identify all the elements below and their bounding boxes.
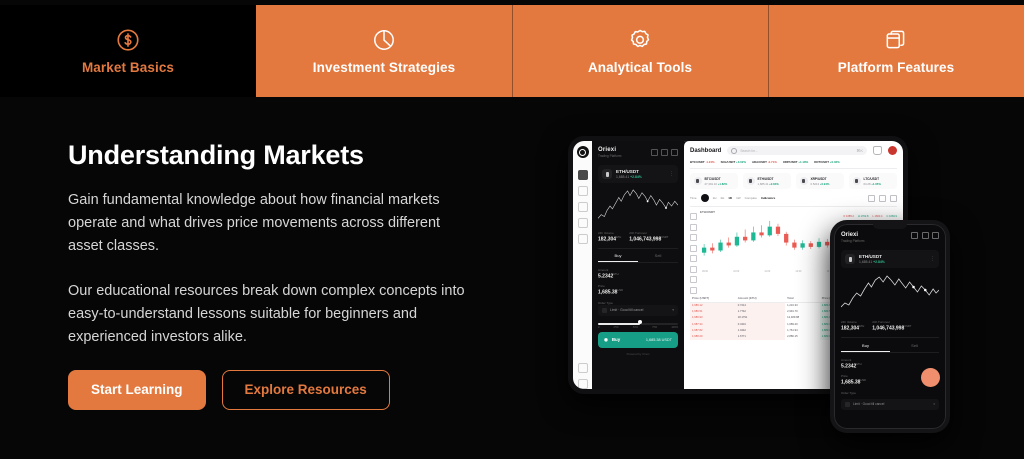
tab-buy[interactable]: Buy <box>598 253 638 262</box>
phone-order-tabs: Buy Sell <box>841 343 939 353</box>
dashboard-header: Dashboard Search for... ⌘K <box>690 146 897 155</box>
panel-stats: 24h Volume 182,304ETH 24h Turnover 1,046… <box>598 231 678 249</box>
layout-icon[interactable] <box>868 195 875 202</box>
cursor-icon[interactable] <box>690 213 697 220</box>
order-side-tabs: Buy Sell <box>598 253 678 263</box>
tab-sell[interactable]: Sell <box>638 253 678 262</box>
trendline-icon[interactable] <box>690 234 697 241</box>
coin-icon <box>602 169 612 179</box>
amount-field[interactable]: Amount 5.2342ETH <box>841 358 939 370</box>
ticker-item[interactable]: BTC/USDT -1.24% <box>690 160 715 164</box>
tab-analytical-tools[interactable]: Analytical Tools <box>512 5 768 97</box>
col-ask-price: Price (USDT) <box>690 294 736 303</box>
phone-screen: Oriexi Trading Platform ETH/USDT 1,6 <box>834 224 946 410</box>
settings-icon[interactable] <box>578 363 588 373</box>
explore-resources-button[interactable]: Explore Resources <box>222 370 390 410</box>
brand-name: Oriexi <box>598 147 621 153</box>
dashboard-icon[interactable] <box>578 170 588 180</box>
stat-item: 24h Volume 182,304ETH <box>598 231 621 243</box>
panel-header-icons <box>651 149 678 156</box>
tablet-order-panel: Oriexi Trading Platform ETH/USDT 1,6 <box>592 141 684 389</box>
pencil-icon[interactable] <box>690 224 697 231</box>
ticker-item[interactable]: ADA/USDT -0.71% <box>752 160 777 164</box>
asset-card[interactable]: XRP/USDT 0.5213 +0.94% <box>796 173 844 189</box>
phone-header: Oriexi Trading Platform <box>841 232 939 243</box>
tablet-nav-rail <box>573 141 592 389</box>
device-mockup-group: Oriexi Trading Platform ETH/USDT 1,6 <box>560 128 980 438</box>
tab-label: Market Basics <box>82 61 174 75</box>
tab-sell[interactable]: Sell <box>890 343 939 352</box>
chart-tool-buttons <box>868 195 897 202</box>
amount-field[interactable]: Amount 5.2342ETH <box>598 268 678 280</box>
pair-symbol: ETH/USDT <box>859 254 885 259</box>
coin-icon <box>800 177 808 185</box>
fullscreen-icon[interactable] <box>890 195 897 202</box>
chart-ohlc-legend: O 1685.2 H 1702.8 L 1663.4 C 1684.9 <box>700 215 897 218</box>
panel-footer-note: Powered by Oriexi <box>598 348 678 356</box>
brand-name: Oriexi <box>841 232 864 238</box>
filter-icon[interactable] <box>922 232 929 239</box>
interval-1d[interactable]: 1D <box>728 196 732 200</box>
panel-line-chart <box>598 188 678 226</box>
search-icon <box>731 148 737 154</box>
cell-ask-amount: 1.6771 <box>736 333 785 339</box>
phone-mockup: Oriexi Trading Platform ETH/USDT 1,6 <box>830 220 950 433</box>
logout-icon[interactable] <box>578 379 588 389</box>
cell-ask-price: 1,686.12 <box>690 302 736 309</box>
asset-card[interactable]: BTC/USDT 27,391.10 +1.82% <box>690 173 738 189</box>
hero-content: Understanding Markets Gain fundamental k… <box>68 140 498 410</box>
search-shortcut: ⌘K <box>856 148 863 153</box>
slider-ticks: 025%50%75%100% <box>598 326 678 329</box>
col-total: Total <box>785 294 820 303</box>
buy-button-amount: 1,685.38 USDT <box>646 338 672 342</box>
order-type-select[interactable]: Limit · Good till cancel ▾ <box>598 305 678 316</box>
order-type-select[interactable]: Limit · Good till cancel ▾ <box>841 399 939 410</box>
tab-label: Investment Strategies <box>313 61 455 75</box>
app-logo-icon <box>577 146 589 158</box>
interval-4h[interactable]: 4H <box>720 196 724 200</box>
ruler-icon[interactable] <box>690 287 697 294</box>
search-placeholder: Search for... <box>740 149 757 153</box>
chat-icon[interactable] <box>578 202 588 212</box>
price-field[interactable]: Price 1,685.38USD <box>598 284 678 296</box>
hero-paragraph-2: Our educational resources break down com… <box>68 280 468 349</box>
stat-item: 24h Volume 182,304ETH <box>841 320 864 332</box>
accent-blob <box>921 368 940 387</box>
compare-button[interactable]: Compare <box>745 196 757 200</box>
chart-toolbar: Time 1H 4H 1D 1W Compare Indicators <box>690 194 897 207</box>
chart-type-button[interactable] <box>701 194 709 202</box>
pie-chart-icon <box>371 27 397 53</box>
asset-card[interactable]: LTC/USDT 64.28 +1.05% <box>849 173 897 189</box>
col-ask-amount: Amount (ETH) <box>736 294 785 303</box>
search-input[interactable]: Search for... ⌘K <box>727 146 867 155</box>
cart-icon: ◉ <box>604 337 608 343</box>
tab-platform-features[interactable]: Platform Features <box>768 5 1024 97</box>
gear-icon <box>627 27 653 53</box>
start-learning-button[interactable]: Start Learning <box>68 370 206 410</box>
fib-icon[interactable] <box>690 255 697 262</box>
coin-icon <box>747 177 755 185</box>
chart-drawing-tools <box>690 210 697 294</box>
asset-card-row: BTC/USDT 27,391.10 +1.82% ETH/USDT 1,685… <box>690 173 897 189</box>
tab-buy[interactable]: Buy <box>841 343 890 352</box>
ticker-item[interactable]: DOT/USDT +0.46% <box>814 160 839 164</box>
page-root: Market Basics Investment Strategies Anal… <box>0 0 1024 459</box>
more-options-icon[interactable]: ⋮ <box>669 172 674 177</box>
ticker-item[interactable]: XRP/USDT +1.18% <box>783 160 808 164</box>
indicators-button[interactable]: Indicators <box>761 196 775 200</box>
coin-icon <box>853 177 861 185</box>
tab-label: Analytical Tools <box>588 61 692 75</box>
reports-icon[interactable] <box>578 234 588 244</box>
avatar[interactable] <box>888 146 897 155</box>
briefcase-icon[interactable] <box>578 218 588 228</box>
chart-time-label: Time <box>690 196 697 200</box>
hero-paragraph-1: Gain fundamental knowledge about how fin… <box>68 189 468 258</box>
stat-item: 24h Turnover 1,046,743,998USDT <box>629 231 668 243</box>
more-options-icon[interactable]: ⋮ <box>930 257 935 262</box>
chart-pair-label: ETH/USDT <box>700 210 897 214</box>
order-type-value: Limit · Good till cancel <box>853 402 884 406</box>
phone-stats: 24h Volume 182,304ETH 24h Turnover 1,046… <box>841 320 939 338</box>
tab-investment-strategies[interactable]: Investment Strategies <box>256 5 512 97</box>
hero-button-row: Start Learning Explore Resources <box>68 370 498 410</box>
tab-label: Platform Features <box>838 61 954 75</box>
chevron-down-icon: ▾ <box>672 308 674 312</box>
brand-tagline: Trading Platform <box>841 239 864 243</box>
stat-item: 24h Turnover 1,046,743,998USDT <box>872 320 911 332</box>
coin-icon <box>694 177 702 185</box>
tab-market-basics[interactable]: Market Basics <box>0 5 256 97</box>
market-ticker-strip: BTC/USDT -1.24% SOL/USDT +3.02% ADA/USDT… <box>690 160 897 169</box>
order-type-icon <box>602 308 607 313</box>
category-tab-bar: Market Basics Investment Strategies Anal… <box>0 5 1024 97</box>
chevron-down-icon: ▾ <box>933 402 935 406</box>
brand-tagline: Trading Platform <box>598 154 621 158</box>
dollar-circle-icon <box>115 27 141 53</box>
cell-ask-price: 1,688.20 <box>690 333 736 339</box>
camera-icon[interactable] <box>879 195 886 202</box>
filter-icon[interactable] <box>661 149 668 156</box>
dashboard-title: Dashboard <box>690 148 721 154</box>
page-title: Understanding Markets <box>68 140 498 171</box>
wallet-icon[interactable] <box>578 186 588 196</box>
pair-price: 1,685.41 +2.84% <box>616 175 642 179</box>
phone-notch <box>873 224 907 229</box>
grid-icon[interactable] <box>932 232 939 239</box>
interval-1h[interactable]: 1H <box>713 196 717 200</box>
buy-button[interactable]: ◉ Buy 1,685.38 USDT <box>598 332 678 348</box>
phone-line-chart <box>841 273 939 315</box>
slider-handle[interactable] <box>638 320 642 324</box>
bell-icon[interactable] <box>873 146 882 155</box>
panel-header: Oriexi Trading Platform <box>598 147 678 158</box>
coin-icon <box>845 254 855 264</box>
shapes-icon[interactable] <box>690 266 697 273</box>
order-type-label: Order Type <box>841 391 939 395</box>
asset-card[interactable]: ETH/USDT 1,685.41 +2.84% <box>743 173 791 189</box>
magnet-icon[interactable] <box>690 276 697 283</box>
cell-ask-amount: 0.7214 <box>736 302 785 309</box>
phone-header-icons <box>911 232 939 239</box>
selected-pair-card[interactable]: ETH/USDT 1,685.41 +2.84% ⋮ <box>598 165 678 183</box>
pair-price: 1,685.41 +2.84% <box>859 260 885 264</box>
order-type-value: Limit · Good till cancel <box>610 308 643 312</box>
gear-icon[interactable] <box>911 232 918 239</box>
selected-pair-card[interactable]: ETH/USDT 1,685.41 +2.84% ⋮ <box>841 250 939 268</box>
gear-icon[interactable] <box>651 149 658 156</box>
grid-icon[interactable] <box>671 149 678 156</box>
text-icon[interactable] <box>690 245 697 252</box>
cell-total: 2,880.15 <box>785 333 820 339</box>
cell-total: 1,216.33 <box>785 302 820 309</box>
interval-1w[interactable]: 1W <box>736 196 741 200</box>
amount-slider[interactable]: 025%50%75%100% <box>598 320 678 328</box>
ticker-item[interactable]: SOL/USDT +3.02% <box>721 160 746 164</box>
order-type-icon <box>845 402 850 407</box>
buy-button-label: Buy <box>612 337 620 342</box>
pair-symbol: ETH/USDT <box>616 169 642 174</box>
layers-icon <box>883 27 909 53</box>
